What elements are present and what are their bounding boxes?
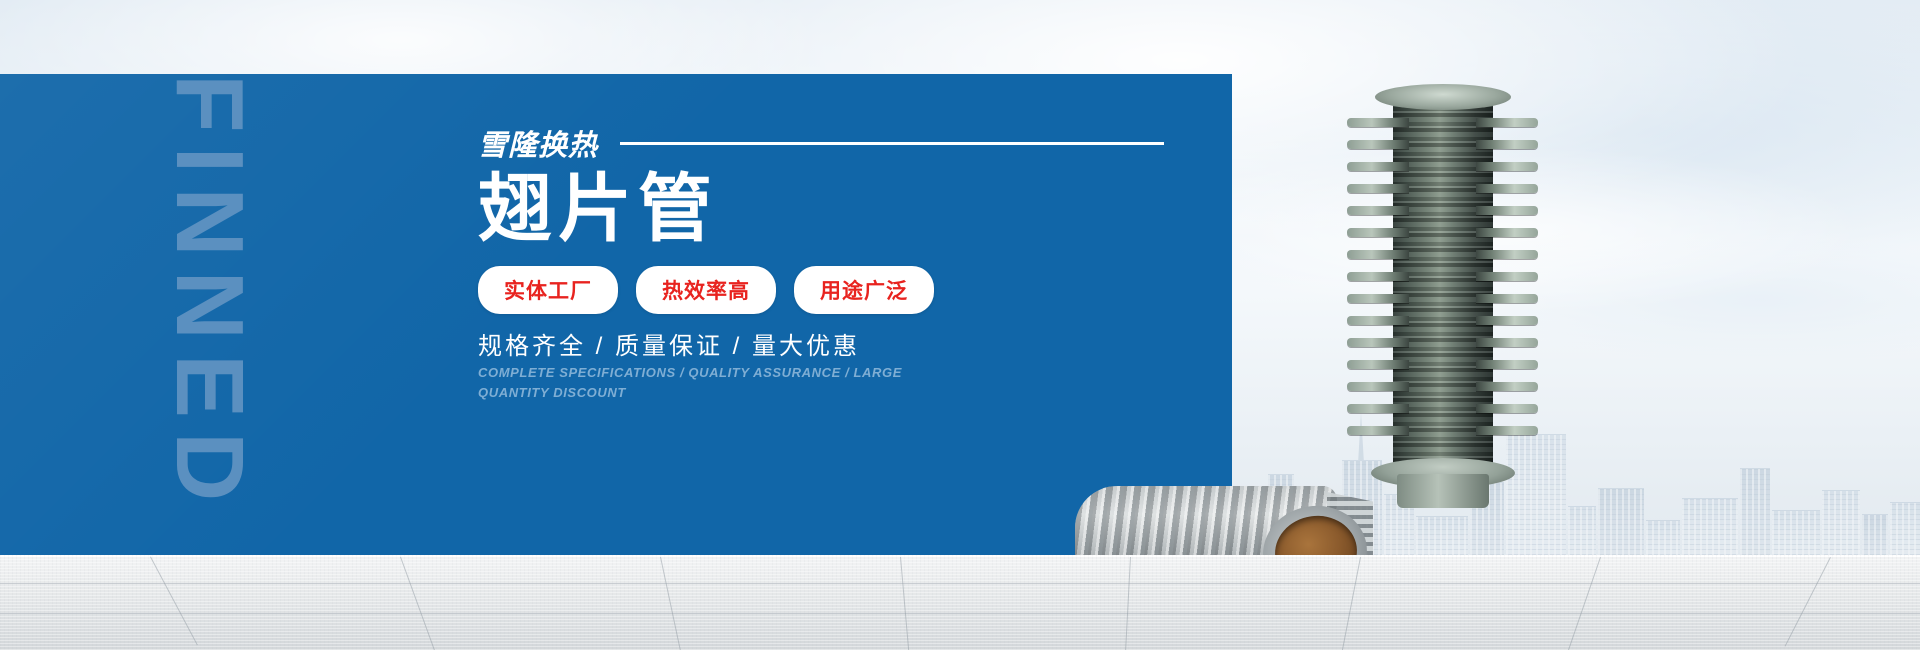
status-badge: 用途广泛 (794, 266, 934, 314)
brand-row: 雪隆换热 (478, 122, 1164, 164)
status-badge: 实体工厂 (478, 266, 618, 314)
terrace-floor (0, 555, 1920, 650)
promo-banner: FINNED 雪隆换热 翅片管 实体工厂 热效率高 用途广泛 规格齐全 / 质量… (0, 0, 1920, 650)
brand-divider-rule (620, 142, 1164, 145)
tube-top-cap (1375, 84, 1511, 110)
features-text-cn: 规格齐全 / 质量保证 / 量大优惠 (478, 326, 860, 361)
banner-text-content: 雪隆换热 翅片管 实体工厂 热效率高 用途广泛 规格齐全 / 质量保证 / 量大… (478, 74, 1178, 555)
floor-texture (0, 555, 1920, 650)
badge-group: 实体工厂 热效率高 用途广泛 (478, 266, 934, 314)
vertical-finned-tube-image (1345, 82, 1540, 482)
status-badge: 热效率高 (636, 266, 776, 314)
features-text-en: COMPLETE SPECIFICATIONS / QUALITY ASSURA… (478, 363, 908, 403)
brand-name: 雪隆换热 (478, 122, 598, 164)
tube-foot (1397, 474, 1489, 508)
page-title: 翅片管 (478, 172, 718, 246)
